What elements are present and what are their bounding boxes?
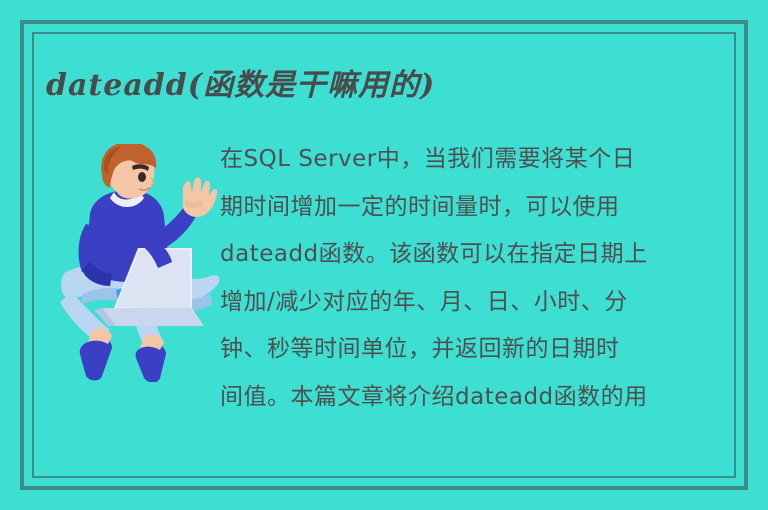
page-title: dateadd(函数是干嘛用的)	[46, 64, 706, 112]
body-line: dateadd函数。该函数可以在指定日期上	[220, 231, 732, 279]
body-line: 钟、秒等时间单位，并返回新的日期时	[220, 326, 732, 374]
body-line: 间值。本篇文章将介绍dateadd函数的用	[220, 374, 732, 409]
body-line: 增加/减少对应的年、月、日、小时、分	[220, 279, 732, 327]
article-body-text: 在SQL Server中，当我们需要将某个日 期时间增加一定的时间量时，可以使用…	[220, 136, 732, 408]
body-line: 在SQL Server中，当我们需要将某个日	[220, 136, 732, 184]
article-cover-card: dateadd(函数是干嘛用的)	[0, 0, 768, 510]
body-line: 期时间增加一定的时间量时，可以使用	[220, 184, 732, 232]
person-with-laptop-illustration	[52, 144, 228, 382]
